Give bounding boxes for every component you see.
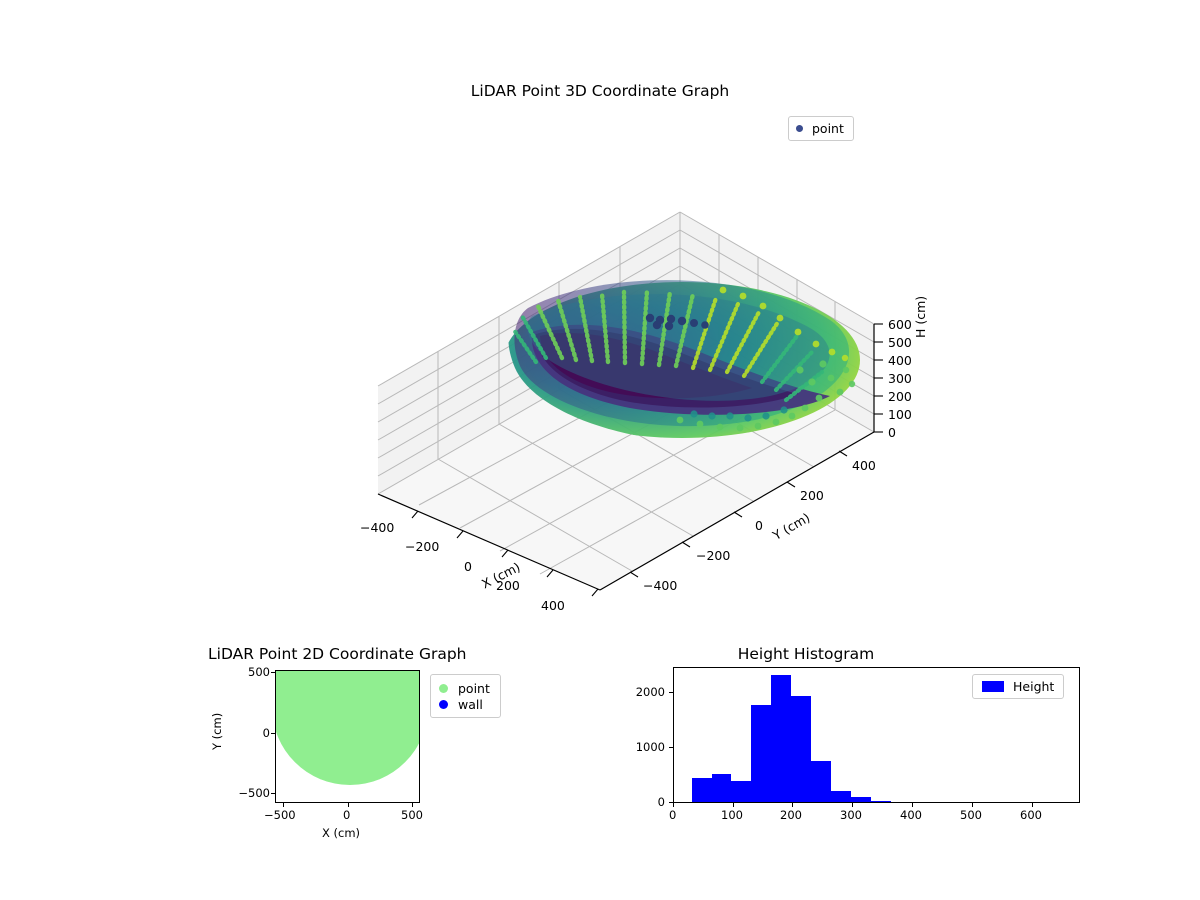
legend-height-swatch-icon bbox=[982, 681, 1004, 692]
x-tick-mark-hist bbox=[912, 803, 913, 807]
legend-point-label: point bbox=[458, 681, 490, 696]
axes-3d-svg bbox=[300, 120, 940, 630]
x-tick-label-2d: 500 bbox=[401, 808, 423, 822]
x-tick-label: 0 bbox=[464, 559, 472, 574]
legend-wall-label: wall bbox=[458, 697, 483, 712]
x-axis-label-2d: X (cm) bbox=[322, 826, 360, 840]
z-tick-label: 300 bbox=[888, 371, 912, 386]
z-axis-label: H (cm) bbox=[913, 296, 928, 338]
y-tick-mark-2d bbox=[271, 672, 275, 673]
histogram-bar bbox=[871, 801, 891, 802]
x-tick-label-hist: 500 bbox=[960, 808, 982, 822]
x-tick-label: −400 bbox=[360, 520, 394, 535]
point-region-fill bbox=[275, 670, 420, 684]
y-tick-label: −400 bbox=[643, 578, 677, 593]
x-tick-label-hist: 600 bbox=[1020, 808, 1042, 822]
x-tick-label-hist: 300 bbox=[840, 808, 862, 822]
x-tick-mark-2d bbox=[412, 803, 413, 807]
lidar-2d-title: LiDAR Point 2D Coordinate Graph bbox=[208, 645, 466, 663]
x-tick-mark-hist bbox=[972, 803, 973, 807]
x-tick-label-hist: 0 bbox=[669, 808, 676, 822]
x-tick-mark-hist bbox=[733, 803, 734, 807]
y-tick-label: 400 bbox=[852, 458, 876, 473]
y-tick-label: 0 bbox=[755, 518, 763, 533]
z-tick-label: 500 bbox=[888, 335, 912, 350]
histogram-bar bbox=[811, 761, 831, 802]
histogram-bar bbox=[692, 778, 712, 802]
y-tick-label-hist: 2000 bbox=[616, 685, 665, 699]
y-tick-label-2d: 500 bbox=[228, 665, 270, 679]
page-title: LiDAR Point 3D Coordinate Graph bbox=[0, 82, 1200, 100]
y-tick-label: 200 bbox=[800, 488, 824, 503]
x-tick-label-hist: 100 bbox=[721, 808, 743, 822]
x-tick-mark-hist bbox=[1032, 803, 1033, 807]
histogram-bar bbox=[831, 791, 851, 802]
histogram-title: Height Histogram bbox=[738, 645, 875, 663]
histogram-bar bbox=[751, 705, 771, 802]
z-tick-label: 600 bbox=[888, 317, 912, 332]
y-axis-label-2d: Y (cm) bbox=[210, 713, 224, 750]
x-tick-mark-2d bbox=[283, 803, 284, 807]
legend-wall-marker-icon bbox=[439, 700, 448, 709]
y-tick-mark-hist bbox=[669, 747, 673, 748]
y-tick-label-hist: 0 bbox=[625, 795, 665, 809]
y-tick-mark-2d bbox=[271, 733, 275, 734]
x-tick-mark-hist bbox=[673, 803, 674, 807]
legend-row-point: point bbox=[439, 680, 490, 696]
histogram-bar bbox=[791, 696, 811, 802]
z-tick-label: 400 bbox=[888, 353, 912, 368]
legend-row-wall: wall bbox=[439, 696, 490, 712]
y-tick-mark-hist bbox=[669, 692, 673, 693]
x-tick-mark-hist bbox=[792, 803, 793, 807]
y-tick-label-2d: 0 bbox=[228, 726, 270, 740]
x-tick-label-hist: 200 bbox=[780, 808, 802, 822]
legend-height-label: Height bbox=[1013, 679, 1054, 694]
histogram-bar bbox=[731, 781, 751, 802]
y-tick-label-2d: −500 bbox=[228, 786, 270, 800]
lidar-2d-axes[interactable] bbox=[275, 670, 420, 803]
histogram-bar bbox=[712, 774, 732, 802]
matplotlib-figure: LiDAR Point 3D Coordinate Graph point bbox=[0, 0, 1200, 900]
x-tick-label: 400 bbox=[541, 598, 565, 613]
x-tick-label-2d: 0 bbox=[343, 808, 350, 822]
x-tick-mark-2d bbox=[348, 803, 349, 807]
point-region bbox=[275, 670, 420, 785]
histogram-bar bbox=[851, 797, 871, 802]
z-tick-label: 200 bbox=[888, 389, 912, 404]
x-tick-mark-hist bbox=[852, 803, 853, 807]
y-tick-mark-2d bbox=[271, 793, 275, 794]
legend-histogram: Height bbox=[972, 674, 1064, 699]
legend-2d: point wall bbox=[430, 674, 501, 718]
y-tick-label: −200 bbox=[696, 548, 730, 563]
x-tick-label: −200 bbox=[405, 539, 439, 554]
x-tick-label-2d: −500 bbox=[264, 808, 296, 822]
y-tick-label-hist: 1000 bbox=[616, 740, 665, 754]
histogram-bar bbox=[771, 675, 791, 802]
lidar-3d-axes[interactable]: −400 −200 0 200 400 X (cm) −400 −200 0 2… bbox=[300, 120, 940, 630]
z-tick-label: 100 bbox=[888, 407, 912, 422]
legend-point-marker-icon bbox=[439, 684, 448, 693]
x-tick-label-hist: 400 bbox=[900, 808, 922, 822]
z-tick-label: 0 bbox=[888, 425, 896, 440]
